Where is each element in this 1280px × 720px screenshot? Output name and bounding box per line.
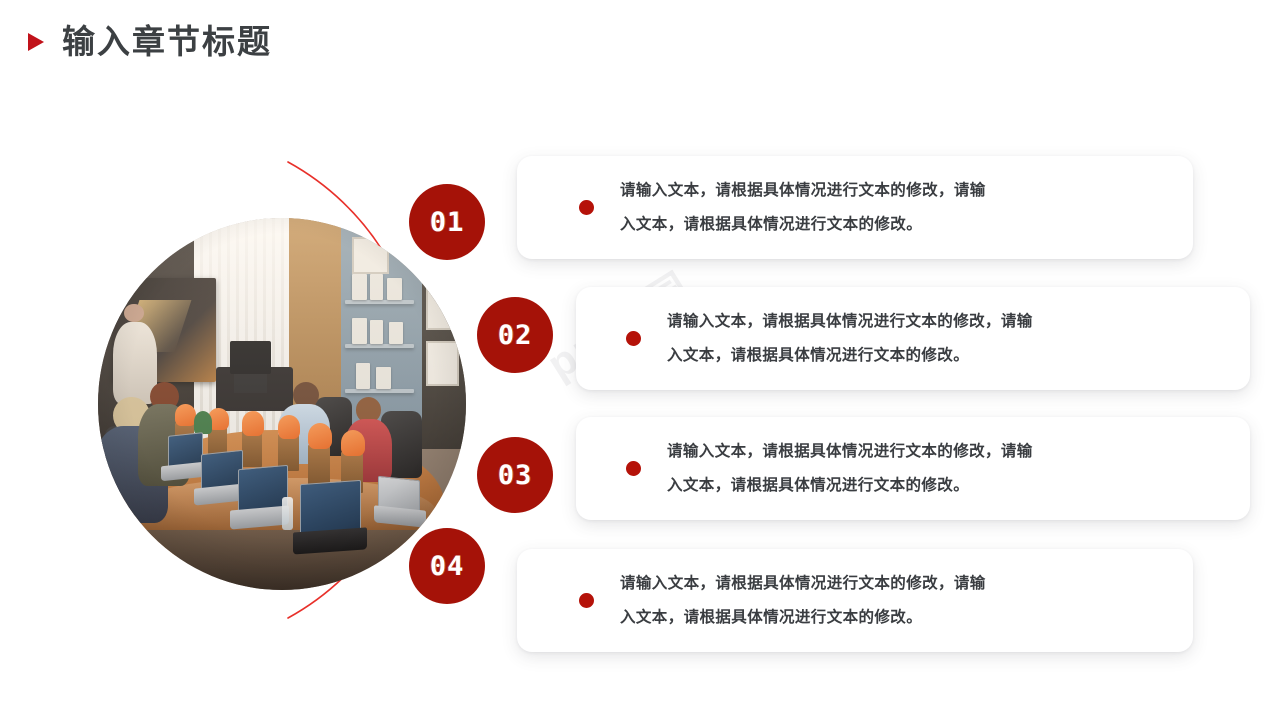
- meeting-room-photo: [98, 218, 466, 590]
- step-badge-02-label: 02: [498, 322, 533, 349]
- step-badge-01[interactable]: 01: [409, 184, 485, 260]
- content-card-01-text: 请输入文本，请根据具体情况进行文本的修改，请输 入文本，请根据具体情况进行文本的…: [620, 174, 986, 242]
- step-badge-02[interactable]: 02: [477, 297, 553, 373]
- visual-group: 01 02 03 04: [60, 140, 580, 660]
- slide-header: 输入章节标题: [0, 0, 1280, 90]
- content-card-04-text: 请输入文本，请根据具体情况进行文本的修改，请输 入文本，请根据具体情况进行文本的…: [620, 567, 986, 635]
- dot-icon: [579, 200, 594, 215]
- content-card-02[interactable]: 请输入文本，请根据具体情况进行文本的修改，请输 入文本，请根据具体情况进行文本的…: [576, 287, 1250, 390]
- content-card-02-text: 请输入文本，请根据具体情况进行文本的修改，请输 入文本，请根据具体情况进行文本的…: [667, 305, 1033, 373]
- step-badge-04-label: 04: [430, 553, 465, 580]
- step-badge-01-label: 01: [430, 209, 465, 236]
- triangle-right-icon: [28, 33, 44, 51]
- content-card-03[interactable]: 请输入文本，请根据具体情况进行文本的修改，请输 入文本，请根据具体情况进行文本的…: [576, 417, 1250, 520]
- content-card-01[interactable]: 请输入文本，请根据具体情况进行文本的修改，请输 入文本，请根据具体情况进行文本的…: [517, 156, 1193, 259]
- step-badge-04[interactable]: 04: [409, 528, 485, 604]
- step-badge-03-label: 03: [498, 462, 533, 489]
- step-badge-03[interactable]: 03: [477, 437, 553, 513]
- dot-icon: [626, 331, 641, 346]
- content-card-04[interactable]: 请输入文本，请根据具体情况进行文本的修改，请输 入文本，请根据具体情况进行文本的…: [517, 549, 1193, 652]
- dot-icon: [579, 593, 594, 608]
- page-title: 输入章节标题: [62, 20, 272, 64]
- content-card-03-text: 请输入文本，请根据具体情况进行文本的修改，请输 入文本，请根据具体情况进行文本的…: [667, 435, 1033, 503]
- dot-icon: [626, 461, 641, 476]
